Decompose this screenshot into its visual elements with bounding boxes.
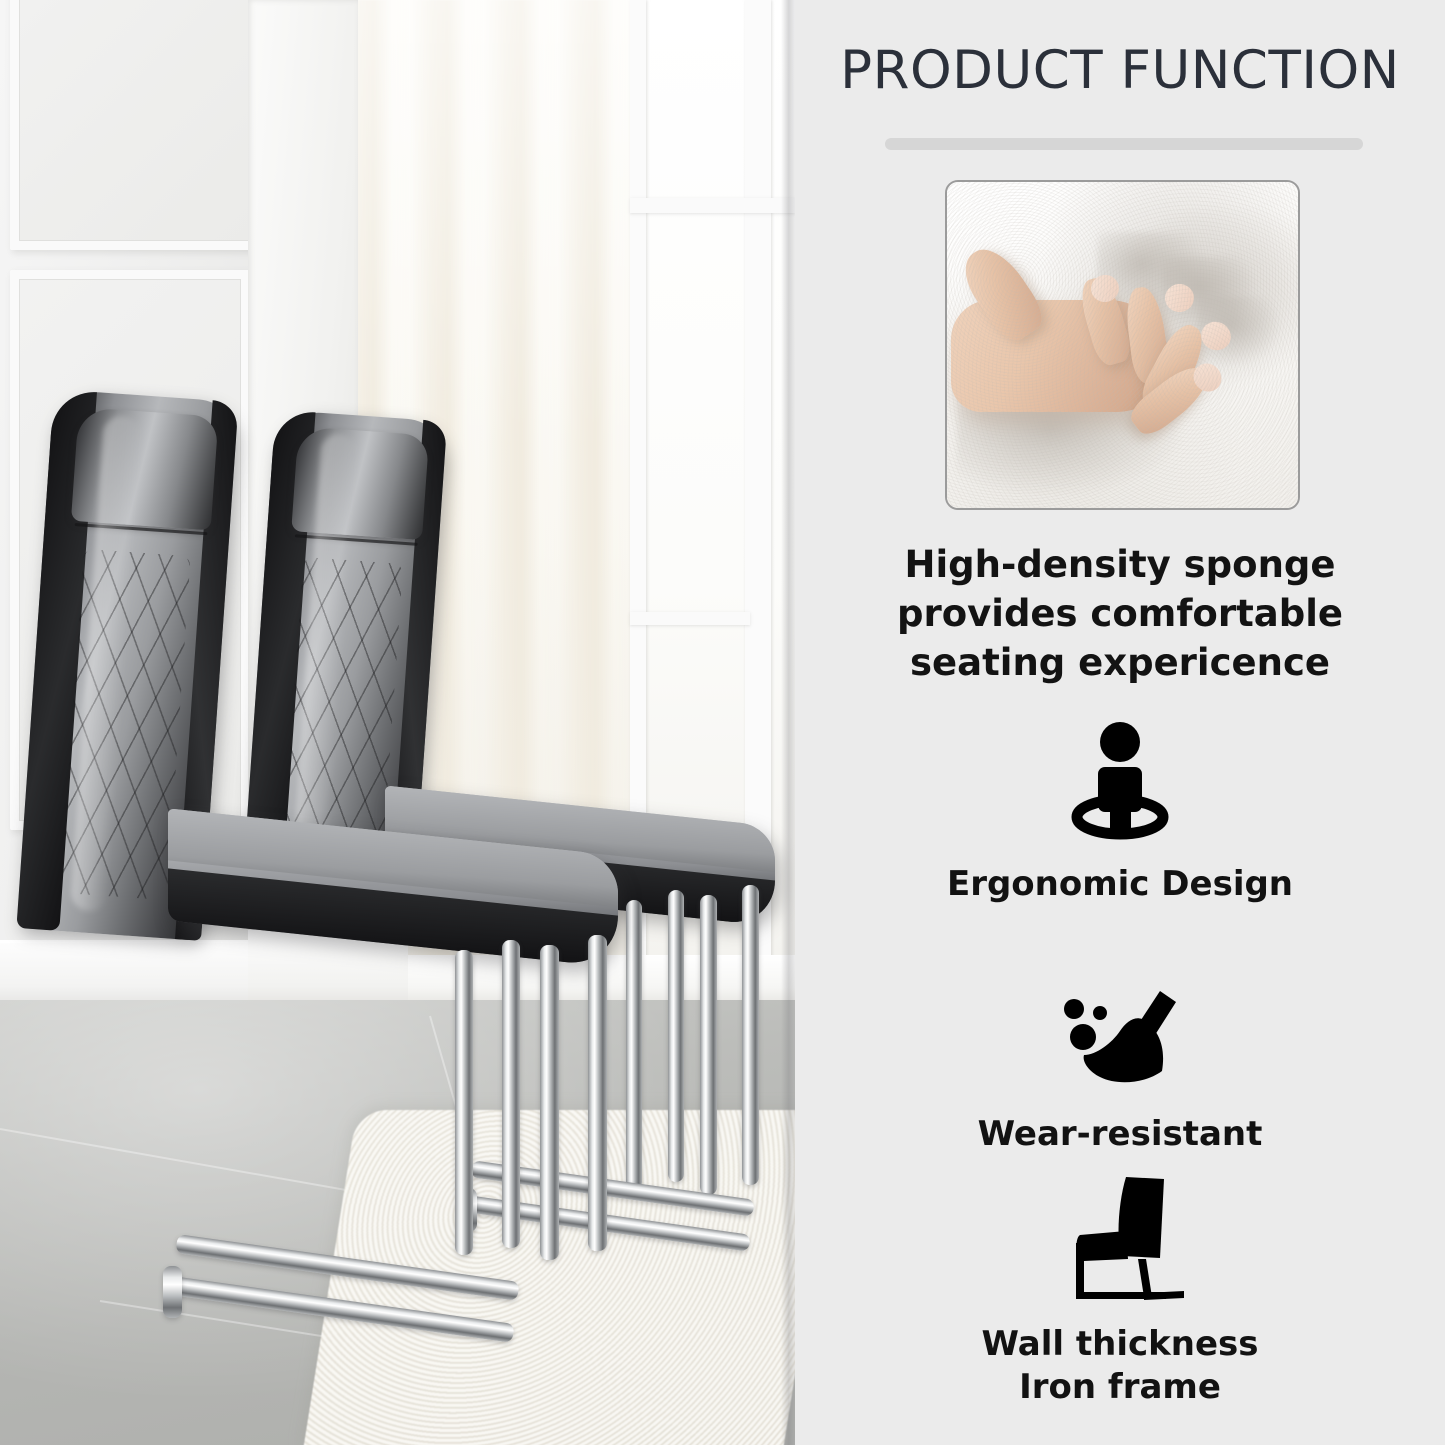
person-in-circle-icon (1056, 717, 1184, 845)
feature-label-wear-resistant: Wear-resistant (795, 1113, 1445, 1156)
chair-front-leg-front (540, 945, 559, 1260)
feature-label-iron-frame-line2: Iron frame (795, 1366, 1445, 1409)
feature-ergonomic-design: Ergonomic Design (795, 715, 1445, 906)
page-title: PRODUCT FUNCTION (795, 40, 1445, 101)
window-transom (630, 198, 795, 213)
product-lifestyle-photo (0, 0, 795, 1445)
chair-front-base-front-rail (163, 1266, 182, 1318)
sponge-caption-line-3: seating expericence (820, 638, 1420, 687)
feature-icon-wrap (795, 715, 1445, 845)
headrest-cushion (291, 426, 429, 540)
chair-front-leg-front-2 (588, 935, 607, 1251)
broom-sweeping-icon (1056, 985, 1184, 1095)
feature-icon-wrap (795, 965, 1445, 1095)
window-mullion-mid (630, 612, 750, 625)
chair-back-leg-rear-2 (668, 890, 684, 1182)
chair-back-leg-front (700, 895, 717, 1195)
product-infographic: PRODUCT FUNCTION (0, 0, 1445, 1445)
feature-label-ergonomic: Ergonomic Design (795, 863, 1445, 906)
feature-label-iron-frame: Wall thickness Iron frame (795, 1323, 1445, 1409)
sponge-caption-line-2: provides comfortable (820, 589, 1420, 638)
pane-divider-shadow (781, 0, 795, 1445)
chair-front-leg-rear-2 (502, 940, 520, 1248)
info-panel: PRODUCT FUNCTION (795, 0, 1445, 1445)
feature-icon-wrap (795, 1175, 1445, 1305)
feature-iron-frame: Wall thickness Iron frame (795, 1175, 1445, 1409)
sponge-caption: High-density sponge provides comfortable… (820, 540, 1420, 688)
sponge-photo (945, 180, 1300, 510)
headrest-cushion (71, 407, 219, 530)
title-divider-rule (885, 138, 1363, 150)
wall-moulding-panel-upper (10, 0, 260, 250)
chair-back-leg-rear (626, 900, 642, 1190)
chair-front-leg-rear (455, 950, 473, 1255)
feature-wear-resistant: Wear-resistant (795, 965, 1445, 1156)
chair-back-leg-front-2 (742, 885, 759, 1185)
cantilever-chair-icon (1054, 1173, 1186, 1305)
sponge-caption-line-1: High-density sponge (820, 540, 1420, 589)
foam-texture-grain (947, 182, 1298, 508)
window-post-right (745, 0, 771, 960)
feature-label-iron-frame-line1: Wall thickness (795, 1323, 1445, 1366)
